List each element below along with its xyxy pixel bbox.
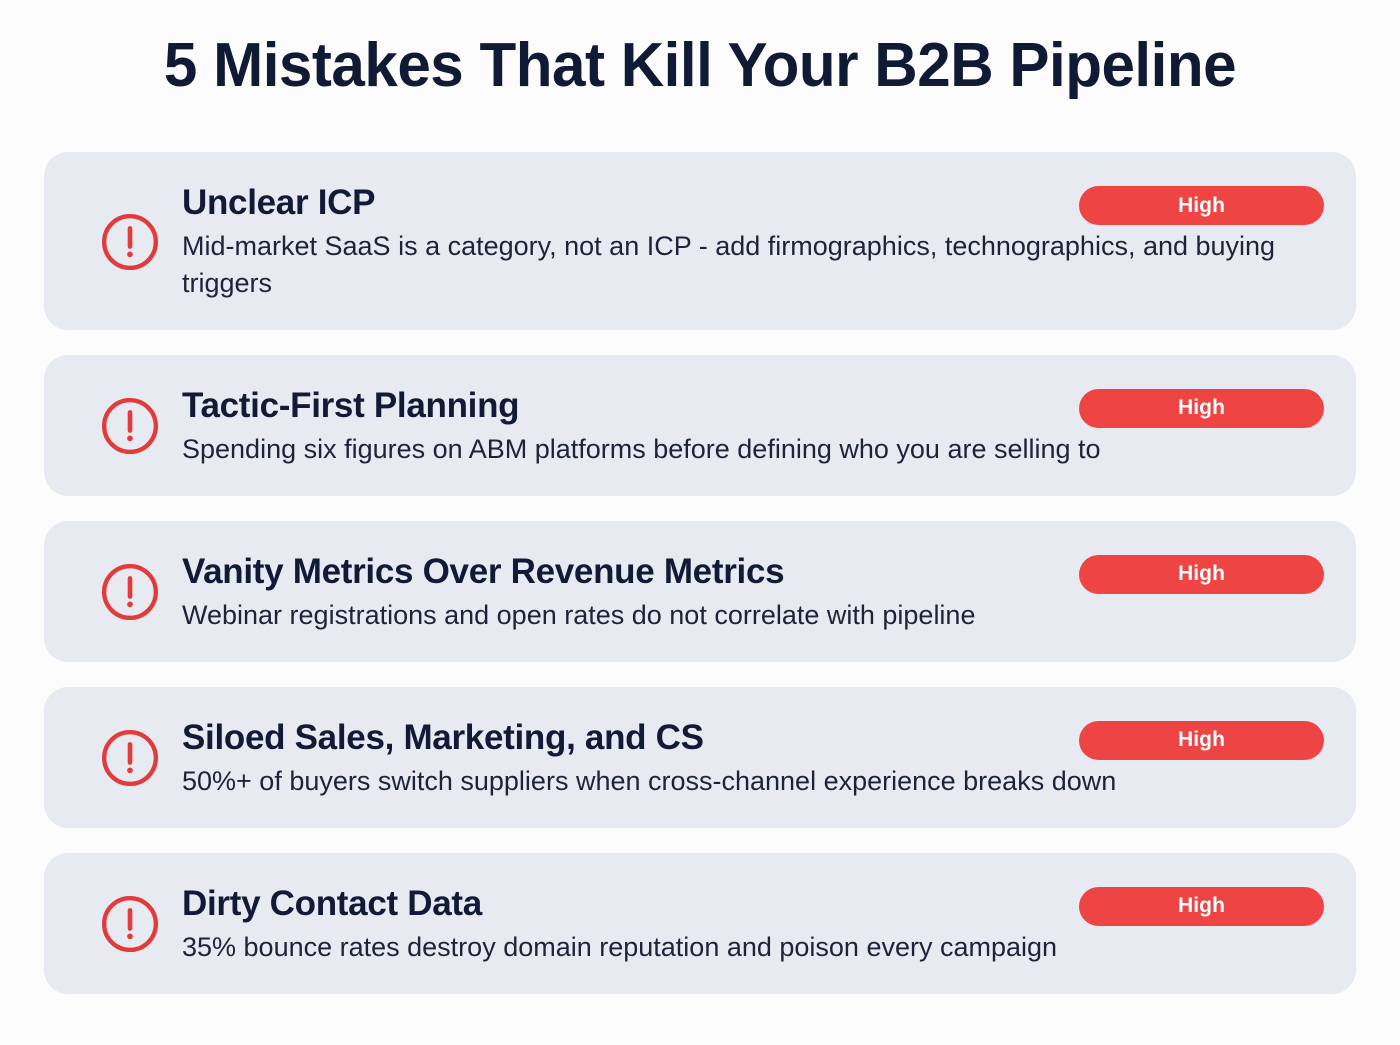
card-description: Mid-market SaaS is a category, not an IC…: [182, 228, 1307, 301]
infographic-page: 5 Mistakes That Kill Your B2B Pipeline U…: [0, 0, 1400, 1045]
alert-circle-icon: [99, 893, 161, 955]
mistake-card-list: Unclear ICP Mid-market SaaS is a categor…: [44, 152, 1356, 1019]
card-description: 50%+ of buyers switch suppliers when cro…: [182, 763, 1307, 800]
card-description: Webinar registrations and open rates do …: [182, 597, 1307, 634]
mistake-card[interactable]: Unclear ICP Mid-market SaaS is a categor…: [44, 152, 1356, 330]
card-icon-column: [78, 393, 182, 457]
card-icon-column: [78, 209, 182, 273]
card-icon-column: [78, 891, 182, 955]
card-description: Spending six figures on ABM platforms be…: [182, 431, 1307, 468]
priority-badge[interactable]: High: [1079, 186, 1324, 225]
card-description: 35% bounce rates destroy domain reputati…: [182, 929, 1307, 966]
priority-badge[interactable]: High: [1079, 389, 1324, 428]
mistake-card[interactable]: Dirty Contact Data 35% bounce rates dest…: [44, 853, 1356, 994]
alert-circle-icon: [99, 211, 161, 273]
priority-badge[interactable]: High: [1079, 721, 1324, 760]
mistake-card[interactable]: Tactic-First Planning Spending six figur…: [44, 355, 1356, 496]
priority-badge[interactable]: High: [1079, 555, 1324, 594]
alert-circle-icon: [99, 561, 161, 623]
page-title: 5 Mistakes That Kill Your B2B Pipeline: [21, 33, 1379, 100]
card-icon-column: [78, 725, 182, 789]
priority-badge[interactable]: High: [1079, 887, 1324, 926]
mistake-card[interactable]: Vanity Metrics Over Revenue Metrics Webi…: [44, 521, 1356, 662]
card-icon-column: [78, 559, 182, 623]
mistake-card[interactable]: Siloed Sales, Marketing, and CS 50%+ of …: [44, 687, 1356, 828]
alert-circle-icon: [99, 727, 161, 789]
alert-circle-icon: [99, 395, 161, 457]
